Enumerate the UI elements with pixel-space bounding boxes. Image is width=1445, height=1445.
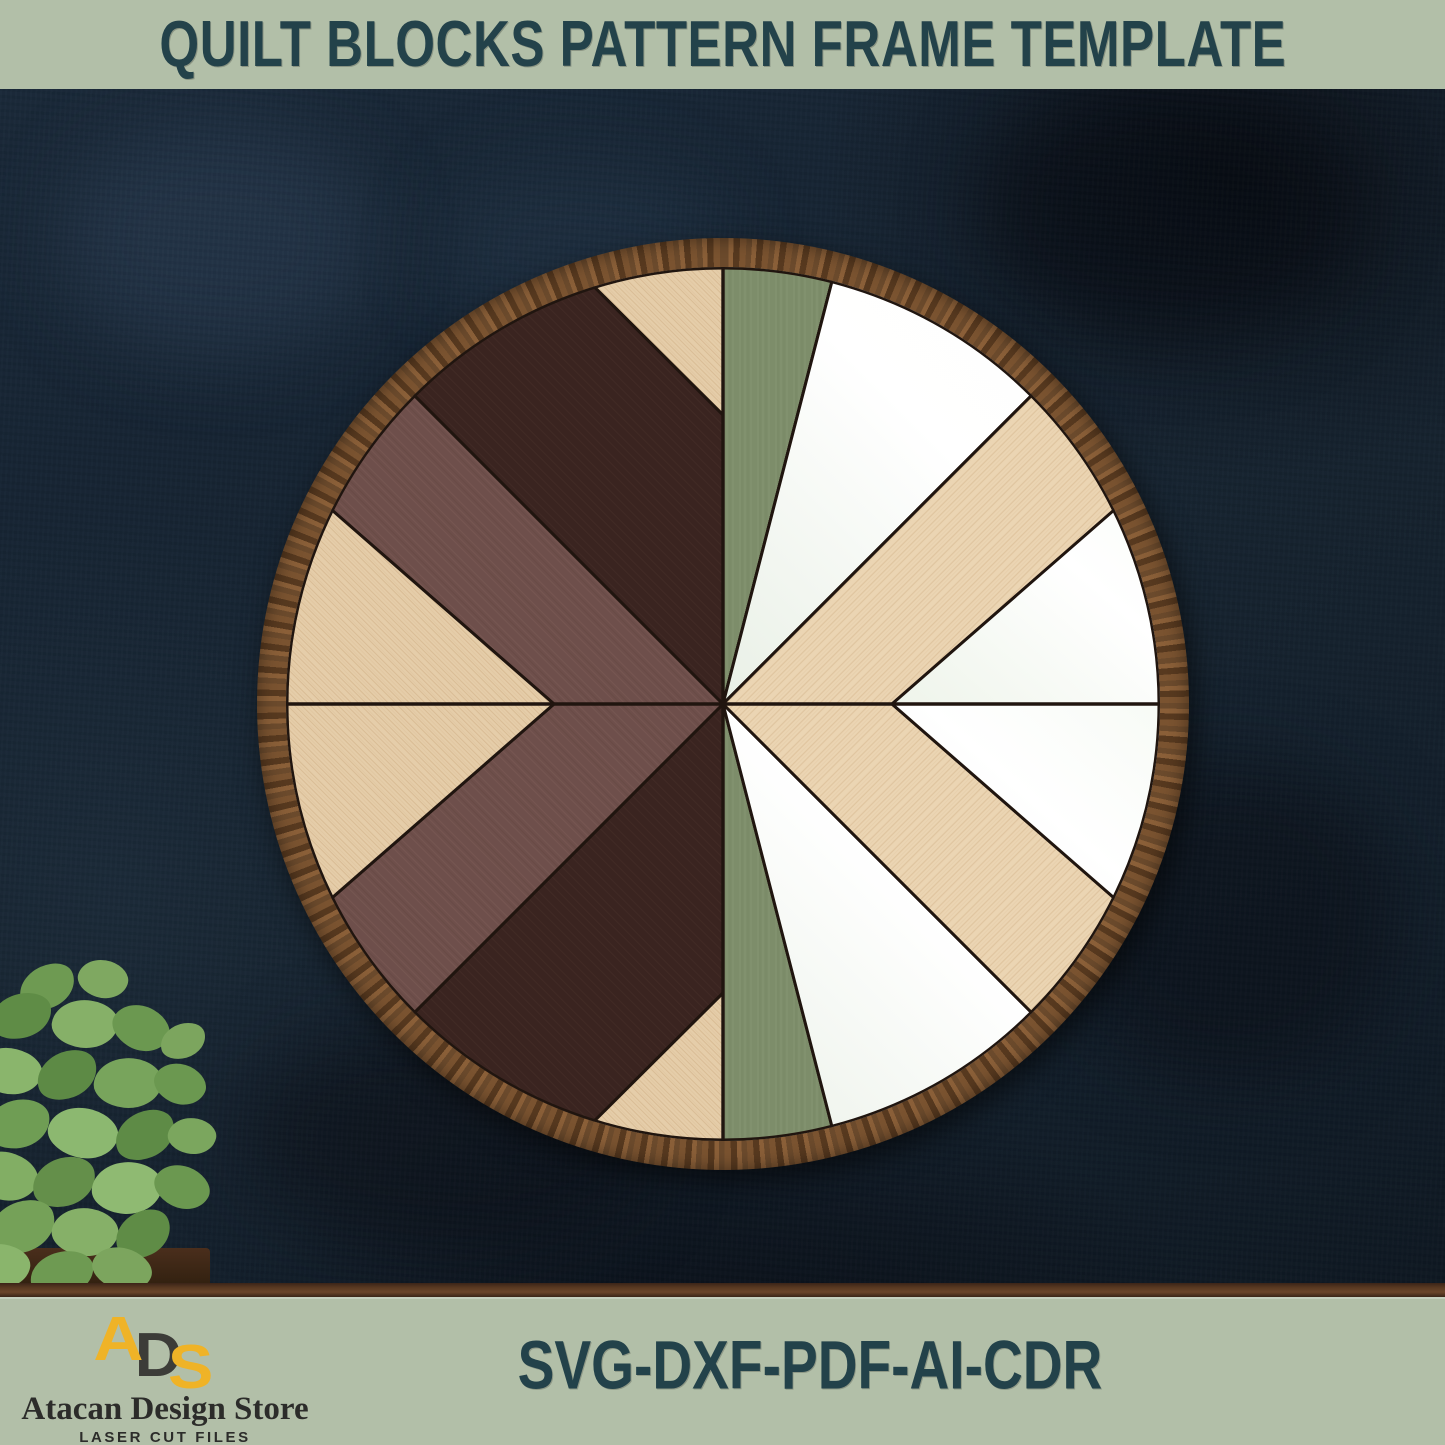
shelf-edge	[0, 1283, 1445, 1297]
plant-leaf	[0, 1096, 53, 1152]
houseplant	[0, 960, 252, 1290]
wall-smudge	[60, 120, 380, 360]
plant-leaf	[148, 1055, 212, 1114]
header-banner: QUILT BLOCKS PATTERN FRAME TEMPLATE	[0, 0, 1445, 89]
brand-logo-block: A D S Atacan Design Store LASER CUT FILE…	[20, 1305, 310, 1443]
wall-smudge	[980, 80, 1360, 340]
logo-letter-s: S	[168, 1337, 213, 1399]
plant-leaf	[165, 1113, 219, 1158]
file-formats-label: SVG-DXF-PDF-AI-CDR	[440, 1326, 1181, 1405]
plant-leaf	[90, 1160, 163, 1217]
brand-tagline: LASER CUT FILES	[20, 1429, 310, 1445]
logo-letter-a: A	[93, 1309, 143, 1371]
plant-leaf	[30, 1043, 104, 1107]
ads-logo-icon: A D S	[88, 1309, 218, 1385]
plant-leaf	[42, 1099, 123, 1166]
page-title: QUILT BLOCKS PATTERN FRAME TEMPLATE	[159, 7, 1286, 81]
quilt-pattern-disc	[286, 267, 1160, 1141]
quilt-pattern-svg	[286, 267, 1160, 1141]
plant-leaf	[49, 996, 121, 1053]
plant-leaf	[73, 953, 132, 1005]
brand-name: Atacan Design Store	[20, 1391, 310, 1428]
quilt-block-artwork	[257, 238, 1189, 1170]
